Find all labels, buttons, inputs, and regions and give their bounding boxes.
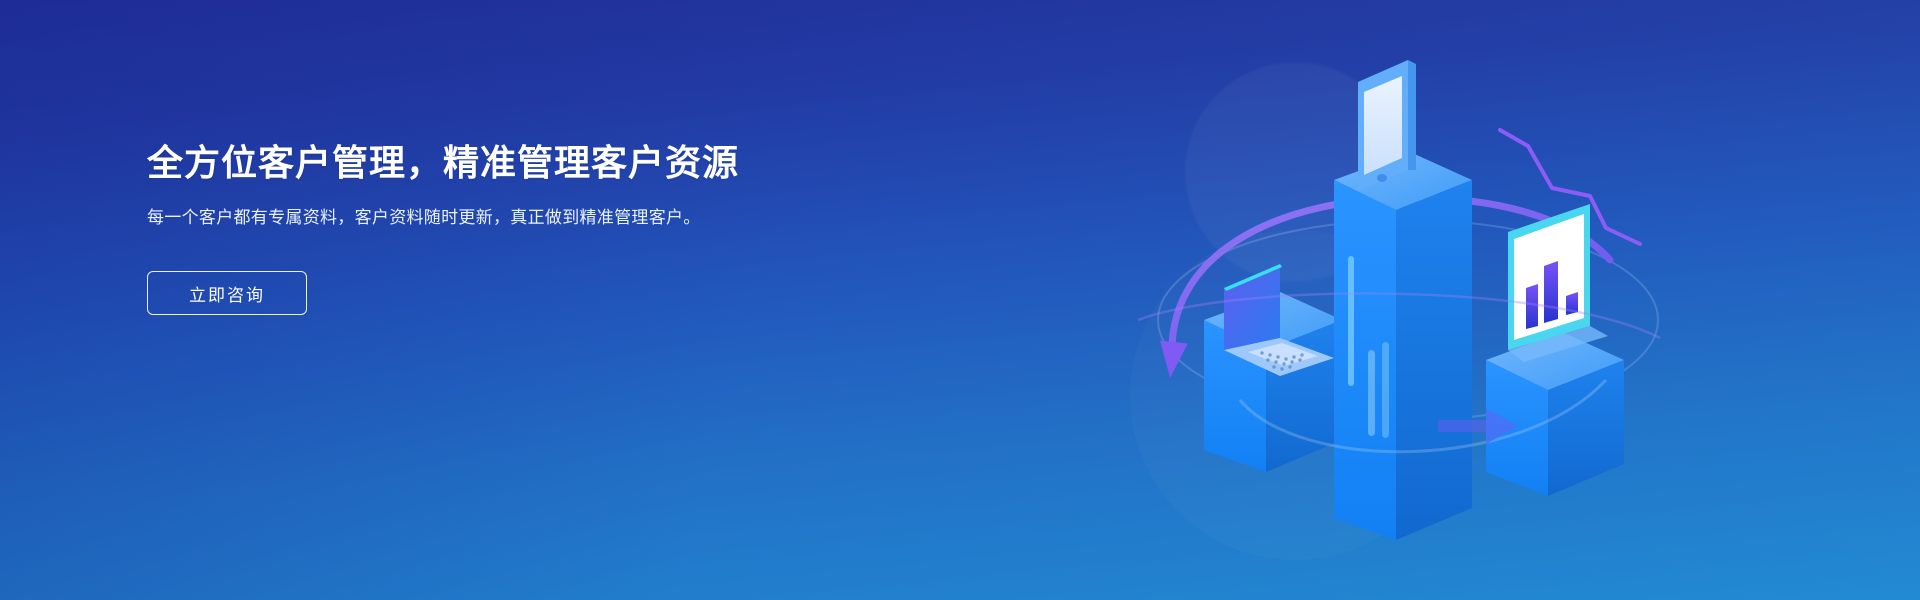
hero-illustration <box>1120 20 1680 580</box>
hero-banner: 全方位客户管理，精准管理客户资源 每一个客户都有专属资料，客户资料随时更新，真正… <box>0 0 1920 600</box>
right-pillar <box>1486 332 1624 496</box>
monitor-chart-icon <box>1508 204 1608 362</box>
hero-subtitle: 每一个客户都有专属资料，客户资料随时更新，真正做到精准管理客户。 <box>147 205 747 231</box>
hero-copy-block: 全方位客户管理，精准管理客户资源 每一个客户都有专属资料，客户资料随时更新，真正… <box>147 140 807 315</box>
page-title: 全方位客户管理，精准管理客户资源 <box>147 140 807 185</box>
center-pillar <box>1334 152 1472 540</box>
consult-now-button[interactable]: 立即咨询 <box>147 271 307 315</box>
tablet-home-button <box>1377 174 1387 182</box>
